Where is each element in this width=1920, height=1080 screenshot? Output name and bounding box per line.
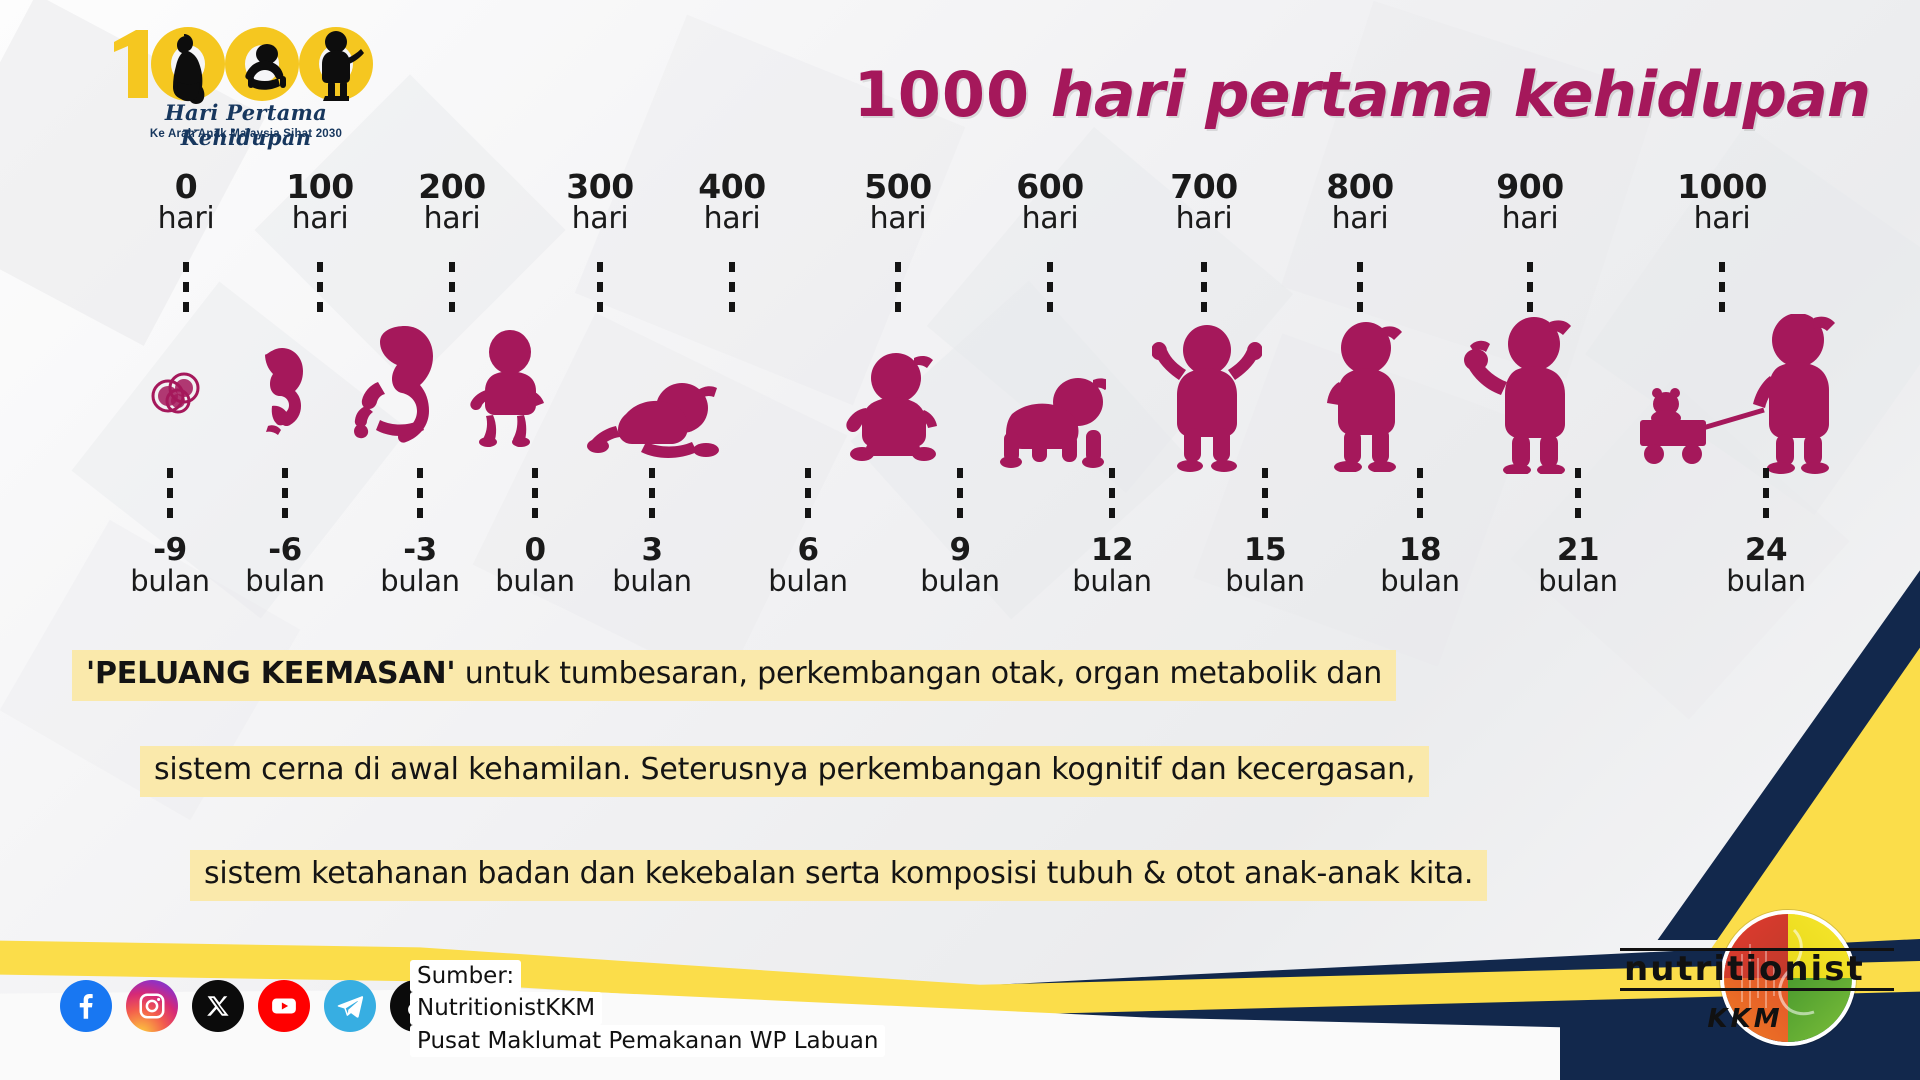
month-tick-24: 24bulan	[1706, 535, 1826, 596]
month-tick-unit: bulan	[1518, 567, 1638, 597]
month-tick-value: 24	[1706, 535, 1826, 567]
month-tick-15: 15bulan	[1205, 535, 1325, 596]
day-tick-unit: hari	[392, 204, 512, 235]
month-tick-12: 12bulan	[1052, 535, 1172, 596]
day-tick-value: 400	[672, 170, 792, 204]
month-tick-dash	[1262, 468, 1268, 526]
month-tick-unit: bulan	[1205, 567, 1325, 597]
day-tick-300: 300hari	[540, 170, 660, 234]
month-tick-value: -9	[110, 535, 230, 567]
month-tick-dash	[1109, 468, 1115, 526]
month-tick-dash	[649, 468, 655, 526]
day-tick-900: 900hari	[1470, 170, 1590, 234]
day-tick-value: 500	[838, 170, 958, 204]
embryo-icon	[252, 340, 316, 440]
month-tick--6: -6bulan	[225, 535, 345, 596]
message-line-2-text: sistem cerna di awal kehamilan. Seterusn…	[154, 752, 1415, 787]
program-logo: Hari Pertama Kehidupan Ke Arah Anak Mala…	[96, 22, 396, 142]
day-tick-value: 900	[1470, 170, 1590, 204]
month-tick-value: 0	[475, 535, 595, 567]
logo-tagline: Hari Pertama Kehidupan	[96, 100, 396, 150]
page-title: 1000 hari pertama kehidupan	[760, 58, 1870, 131]
nutritionist-wordmark: nutritionist	[1620, 948, 1894, 991]
message-line-1: 'PELUANG KEEMASAN' untuk tumbesaran, per…	[72, 650, 1396, 701]
day-tick-200: 200hari	[392, 170, 512, 234]
nutritionist-kkm-logo: nutritionist KKM	[1620, 900, 1890, 1050]
baby-crawling-icon	[988, 368, 1106, 468]
day-tick-800: 800hari	[1300, 170, 1420, 234]
nutritionist-kkm-sub: KKM	[1620, 1004, 1870, 1034]
baby-sitting-icon	[840, 352, 944, 464]
month-tick-value: 12	[1052, 535, 1172, 567]
source-line-2: Pusat Maklumat Pemakanan WP Labuan	[410, 1025, 885, 1057]
day-tick-100: 100hari	[260, 170, 380, 234]
message-line-3: sistem ketahanan badan dan kekebalan ser…	[190, 850, 1487, 901]
message-line-3-text: sistem ketahanan badan dan kekebalan ser…	[204, 856, 1473, 891]
day-tick-700: 700hari	[1144, 170, 1264, 234]
month-tick-9: 9bulan	[900, 535, 1020, 596]
message-line-1-rest: untuk tumbesaran, perkembangan otak, org…	[455, 656, 1382, 691]
facebook-icon[interactable]	[60, 980, 112, 1032]
month-tick-value: 3	[592, 535, 712, 567]
source-line-1: NutritionistKKM	[410, 992, 602, 1024]
day-tick-500: 500hari	[838, 170, 958, 234]
month-tick-3: 3bulan	[592, 535, 712, 596]
day-tick-unit: hari	[1470, 204, 1590, 235]
toddler-walking-icon	[1322, 322, 1408, 472]
youtube-icon[interactable]	[258, 980, 310, 1032]
day-tick-value: 100	[260, 170, 380, 204]
month-tick-dash	[532, 468, 538, 526]
month-tick-value: 18	[1360, 535, 1480, 567]
page-title-text: hari pertama kehidupan	[1030, 58, 1870, 131]
day-tick-value: 600	[990, 170, 1110, 204]
day-tick-unit: hari	[1662, 204, 1782, 235]
day-tick-unit: hari	[1144, 204, 1264, 235]
day-tick-unit: hari	[990, 204, 1110, 235]
zygote-cells-icon	[148, 366, 204, 422]
month-tick-unit: bulan	[1706, 567, 1826, 597]
month-tick-unit: bulan	[1052, 567, 1172, 597]
day-tick-value: 300	[540, 170, 660, 204]
x-twitter-icon[interactable]	[192, 980, 244, 1032]
child-waving-icon	[1462, 316, 1582, 474]
logo-subtagline: Ke Arah Anak Malaysia Sihat 2030	[96, 128, 396, 140]
page-title-number: 1000	[854, 58, 1031, 131]
month-tick-dash	[957, 468, 963, 526]
toddler-standing-arms-up-icon	[1152, 324, 1262, 472]
day-tick-value: 0	[126, 170, 246, 204]
month-tick-dash	[417, 468, 423, 526]
stage-figures	[0, 300, 1920, 480]
day-tick-unit: hari	[126, 204, 246, 235]
source-credit: Sumber: NutritionistKKM Pusat Maklumat P…	[410, 960, 885, 1057]
day-tick-1000: 1000hari	[1662, 170, 1782, 234]
day-tick-unit: hari	[838, 204, 958, 235]
month-tick-unit: bulan	[475, 567, 595, 597]
month-tick-value: 9	[900, 535, 1020, 567]
month-tick-unit: bulan	[748, 567, 868, 597]
day-tick-unit: hari	[672, 204, 792, 235]
month-tick-value: 15	[1205, 535, 1325, 567]
month-tick-dash	[1763, 468, 1769, 526]
day-tick-unit: hari	[1300, 204, 1420, 235]
month-tick-dash	[167, 468, 173, 526]
month-tick-6: 6bulan	[748, 535, 868, 596]
day-tick-0: 0hari	[126, 170, 246, 234]
infographic-canvas: Hari Pertama Kehidupan Ke Arah Anak Mala…	[0, 0, 1920, 1080]
month-tick-value: -3	[360, 535, 480, 567]
month-tick-21: 21bulan	[1518, 535, 1638, 596]
month-tick-value: -6	[225, 535, 345, 567]
child-pulling-wagon-icon	[1636, 314, 1846, 474]
month-tick-dash	[1417, 468, 1423, 526]
source-label: Sumber:	[410, 960, 521, 992]
month-tick-unit: bulan	[225, 567, 345, 597]
message-line-1-bold: 'PELUANG KEEMASAN'	[86, 656, 455, 691]
month-tick-unit: bulan	[110, 567, 230, 597]
social-links	[60, 980, 442, 1032]
month-tick-unit: bulan	[1360, 567, 1480, 597]
month-tick-unit: bulan	[360, 567, 480, 597]
month-tick-unit: bulan	[592, 567, 712, 597]
month-tick-value: 6	[748, 535, 868, 567]
fetus-icon	[350, 320, 446, 444]
instagram-icon[interactable]	[126, 980, 178, 1032]
day-tick-value: 700	[1144, 170, 1264, 204]
message-line-2: sistem cerna di awal kehamilan. Seterusn…	[140, 746, 1429, 797]
month-tick-value: 21	[1518, 535, 1638, 567]
month-tick-0: 0bulan	[475, 535, 595, 596]
telegram-icon[interactable]	[324, 980, 376, 1032]
logo-1000-graphic	[96, 22, 396, 104]
month-tick-unit: bulan	[900, 567, 1020, 597]
day-tick-value: 200	[392, 170, 512, 204]
baby-lying-icon	[586, 374, 728, 460]
day-tick-unit: hari	[260, 204, 380, 235]
day-tick-400: 400hari	[672, 170, 792, 234]
month-tick-dash	[805, 468, 811, 526]
day-tick-value: 800	[1300, 170, 1420, 204]
month-tick--3: -3bulan	[360, 535, 480, 596]
month-tick--9: -9bulan	[110, 535, 230, 596]
day-tick-value: 1000	[1662, 170, 1782, 204]
month-tick-dash	[1575, 468, 1581, 526]
day-tick-unit: hari	[540, 204, 660, 235]
month-tick-18: 18bulan	[1360, 535, 1480, 596]
month-tick-dash	[282, 468, 288, 526]
day-tick-600: 600hari	[990, 170, 1110, 234]
newborn-sitting-icon	[468, 330, 546, 448]
